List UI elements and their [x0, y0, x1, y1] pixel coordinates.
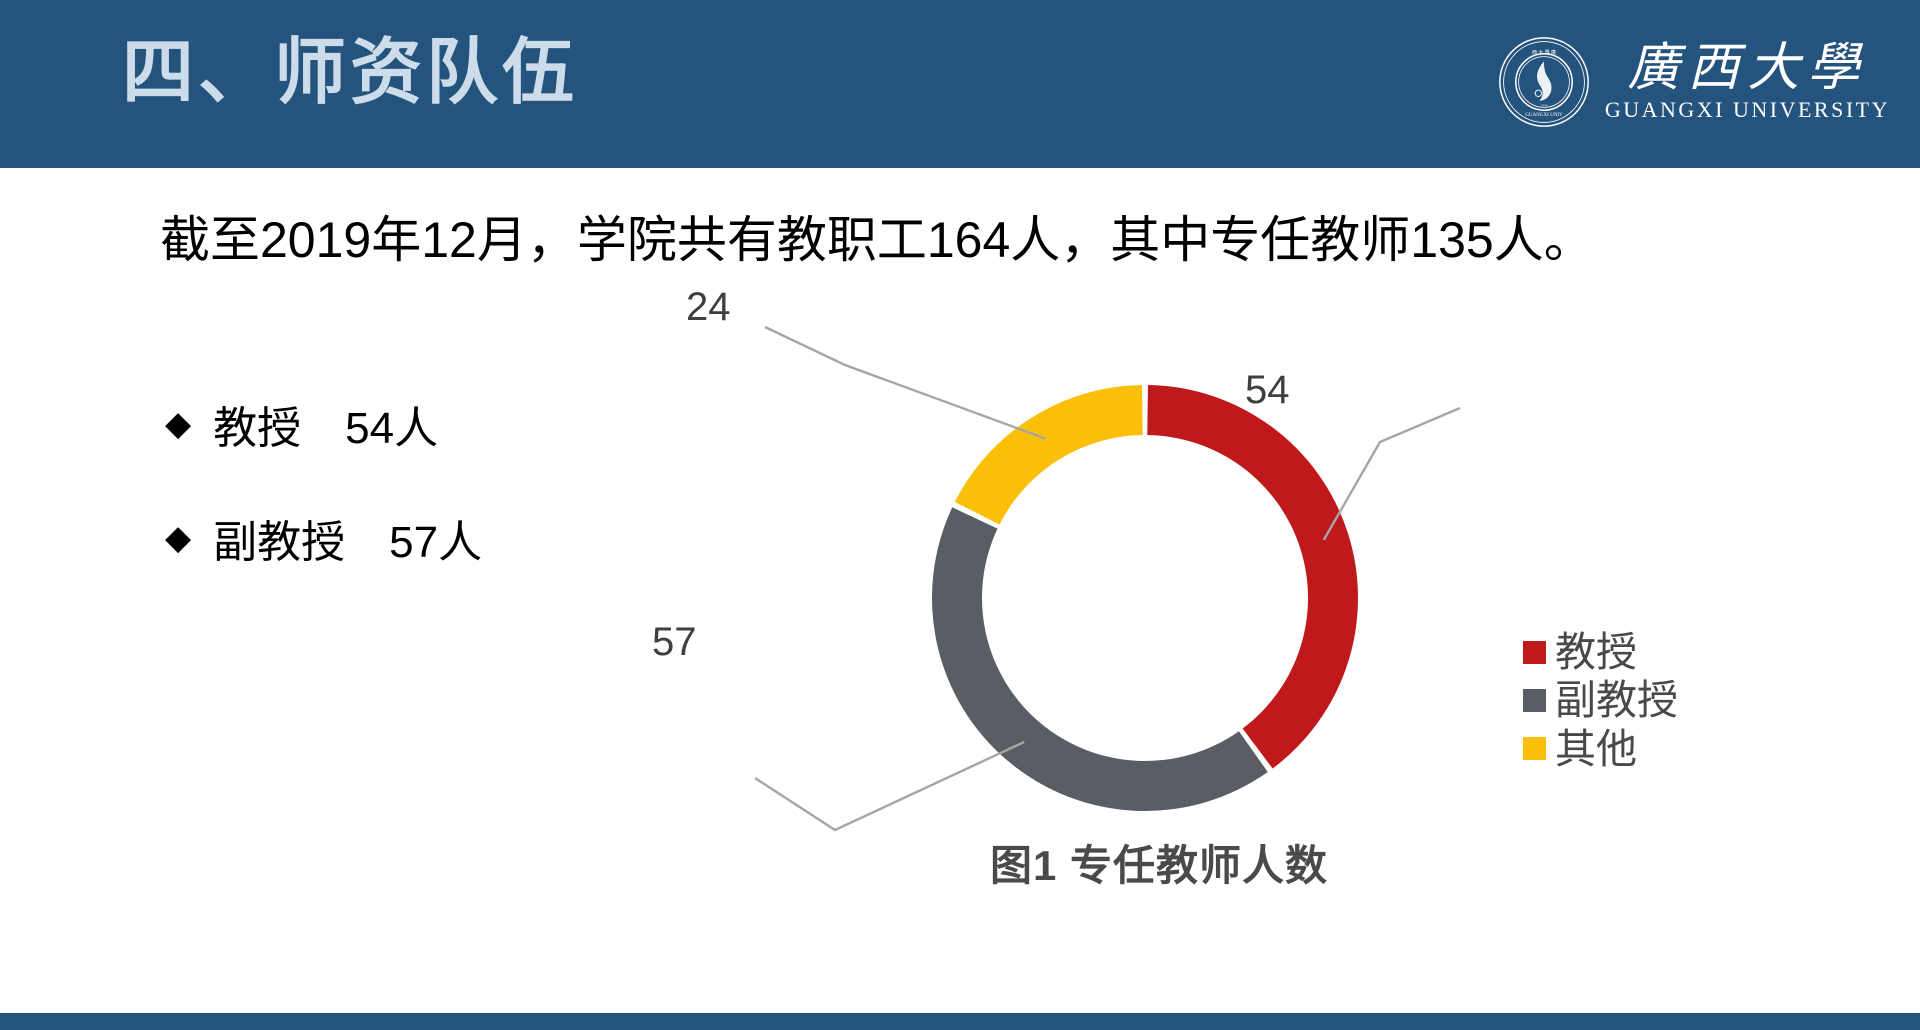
- diamond-bullet-icon: ◆: [165, 407, 191, 441]
- list-item: ◆ 副教授 57人: [165, 506, 685, 570]
- page-title: 四、师资队伍: [122, 30, 578, 116]
- donut-slice[interactable]: [932, 507, 1268, 811]
- chart-caption: 图1 专任教师人数: [990, 832, 1328, 893]
- diamond-bullet-icon: ◆: [165, 521, 191, 555]
- logo-wordmark: 廣西大學 GUANGXI UNIVERSITY: [1605, 41, 1890, 124]
- svg-text:GUANGXI UNIV: GUANGXI UNIV: [1525, 112, 1563, 118]
- bullet-list: ◆ 教授 54人 ◆ 副教授 57人: [165, 392, 685, 620]
- legend-swatch-icon: [1523, 689, 1546, 712]
- legend-swatch-icon: [1523, 737, 1546, 760]
- donut-slice[interactable]: [1147, 385, 1358, 769]
- header-banner: 四、师资队伍 西 大 學 廣 GUANGXI UNIV 1928 廣西大學 GU…: [0, 0, 1920, 168]
- university-logo: 西 大 學 廣 GUANGXI UNIV 1928 廣西大學 GUANGXI U…: [1497, 22, 1890, 142]
- legend-item-other: 其他: [1523, 727, 1678, 771]
- legend-swatch-icon: [1523, 641, 1546, 664]
- leader-line: [755, 742, 1024, 830]
- data-label-other: 24: [686, 285, 731, 330]
- list-item: ◆ 教授 54人: [165, 392, 685, 456]
- donut-slices: [932, 385, 1358, 811]
- legend-label: 教授: [1555, 630, 1637, 674]
- legend-label: 副教授: [1555, 678, 1678, 722]
- list-item-label: 副教授 57人: [213, 506, 482, 570]
- donut-slice[interactable]: [955, 385, 1143, 524]
- logo-chinese-name: 廣西大學: [1627, 41, 1867, 96]
- svg-text:西 大 學 廣: 西 大 學 廣: [1532, 49, 1556, 56]
- legend-label: 其他: [1555, 727, 1637, 771]
- chart-legend: 教授 副教授 其他: [1523, 630, 1678, 775]
- donut-chart: 24 54 57: [640, 270, 1900, 930]
- svg-text:1928: 1928: [1540, 103, 1547, 107]
- legend-item-associate-professor: 副教授: [1523, 678, 1678, 722]
- data-label-professor: 54: [1245, 368, 1290, 413]
- university-seal-icon: 西 大 學 廣 GUANGXI UNIV 1928: [1497, 35, 1591, 129]
- intro-paragraph: 截至2019年12月，学院共有教职工164人，其中专任教师135人。: [160, 200, 1594, 272]
- data-label-associate-professor: 57: [652, 620, 697, 665]
- list-item-label: 教授 54人: [213, 392, 438, 456]
- leader-line: [1324, 408, 1460, 540]
- legend-item-professor: 教授: [1523, 630, 1678, 674]
- footer-bar: [0, 1013, 1920, 1030]
- leader-line: [765, 327, 1045, 439]
- logo-english-name: GUANGXI UNIVERSITY: [1605, 97, 1890, 123]
- slide-root: 四、师资队伍 西 大 學 廣 GUANGXI UNIV 1928 廣西大學 GU…: [0, 0, 1920, 1030]
